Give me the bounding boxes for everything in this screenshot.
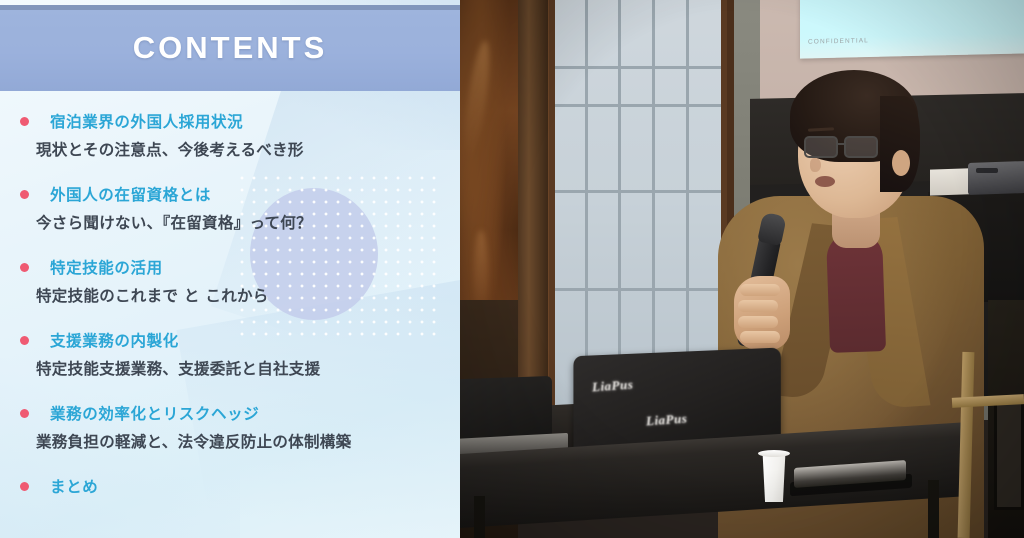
toc-item-title: 宿泊業界の外国人採用状況 [50, 110, 243, 132]
shoji-mullion [618, 0, 621, 406]
shoji-rail [555, 104, 721, 107]
table-leg [928, 480, 939, 538]
toc-item-title: 外国人の在留資格とは [50, 183, 211, 205]
speaker-mouth [815, 176, 835, 187]
list-item[interactable]: 支援業務の内製化 特定技能支援業務、支援委託と自社支援 [0, 329, 460, 379]
wood-pillar [516, 0, 548, 420]
spacer [0, 239, 460, 256]
eyeglasses-right-lens [844, 136, 878, 158]
toc-item-subtitle: 今さら聞けない、『在留資格』って何？ [0, 211, 460, 233]
speaker-nose [810, 158, 821, 172]
finger [740, 331, 780, 343]
table-leg [474, 496, 485, 538]
toc-item-header: 外国人の在留資格とは [0, 183, 460, 205]
eyeglasses-left-lens [804, 136, 838, 158]
finger [740, 284, 780, 296]
toc-item-title: 支援業務の内製化 [50, 329, 179, 351]
bullet-dot-icon [20, 482, 29, 491]
shoji-mullion [585, 0, 588, 406]
shoji-paper [555, 0, 721, 406]
toc-item-header: 宿泊業界の外国人採用状況 [0, 110, 460, 132]
shoji-mullion [652, 0, 655, 406]
shoji-rail [555, 190, 721, 193]
contents-slide: CONTENTS 宿泊業界の外国人採用状況 現状とその注意点、今後考えるべき形 … [0, 0, 460, 538]
spacer [0, 312, 460, 329]
speaker-shirt [826, 231, 886, 353]
page-title: CONTENTS [133, 30, 328, 66]
speaker-hair-side [880, 96, 920, 192]
toc-item-subtitle: 特定技能のこれまで と これから [0, 284, 460, 306]
list-item[interactable]: 業務の効率化とリスクヘッジ 業務負担の軽減と、法令違反防止の体制構築 [0, 402, 460, 452]
list-item[interactable]: 宿泊業界の外国人採用状況 現状とその注意点、今後考えるべき形 [0, 110, 460, 160]
spacer [0, 458, 460, 475]
header-top-rule [0, 5, 460, 10]
list-item[interactable]: 特定技能の活用 特定技能のこれまで と これから [0, 256, 460, 306]
list-item[interactable]: 外国人の在留資格とは 今さら聞けない、『在留資格』って何？ [0, 183, 460, 233]
shoji-mullion [686, 0, 689, 406]
laptop-logo-sticker-bottom: LiaPus [645, 411, 687, 430]
picture-frame [994, 400, 1024, 510]
toc-item-header: 特定技能の活用 [0, 256, 460, 278]
bullet-dot-icon [20, 190, 29, 199]
toc-item-title: 特定技能の活用 [50, 256, 163, 278]
paper-cup-rim [758, 450, 790, 457]
presentation-photo: CONFIDENTIAL [460, 0, 1024, 538]
toc-item-title: まとめ [50, 475, 98, 497]
finger [738, 300, 778, 312]
laptop-logo-sticker-top: LiaPus [591, 377, 633, 396]
shoji-rail [555, 288, 721, 291]
slide-header-band: CONTENTS [0, 5, 460, 91]
projector-device [968, 161, 1024, 195]
slide-with-photo-composite: CONTENTS 宿泊業界の外国人採用状況 現状とその注意点、今後考えるべき形 … [0, 0, 1024, 538]
spacer [0, 166, 460, 183]
bullet-dot-icon [20, 409, 29, 418]
spacer [0, 385, 460, 402]
toc-item-header: 業務の効率化とリスクヘッジ [0, 402, 460, 424]
bullet-dot-icon [20, 336, 29, 345]
projection-screen [800, 0, 1024, 59]
speaker-ear [892, 150, 910, 176]
toc-item-header: まとめ [0, 475, 460, 497]
eyeglasses-bridge [837, 143, 846, 145]
toc-item-subtitle: 業務負担の軽減と、法令違反防止の体制構築 [0, 430, 460, 452]
shoji-rail [555, 66, 721, 69]
contents-list: 宿泊業界の外国人採用状況 現状とその注意点、今後考えるべき形 外国人の在留資格と… [0, 96, 460, 503]
toc-item-subtitle: 特定技能支援業務、支援委託と自社支援 [0, 357, 460, 379]
projection-screen-watermark: CONFIDENTIAL [808, 37, 869, 45]
toc-item-subtitle: 現状とその注意点、今後考えるべき形 [0, 138, 460, 160]
list-item[interactable]: まとめ [0, 475, 460, 497]
toc-item-title: 業務の効率化とリスクヘッジ [50, 402, 259, 424]
bullet-dot-icon [20, 117, 29, 126]
projector-lens [976, 168, 998, 173]
bullet-dot-icon [20, 263, 29, 272]
toc-item-header: 支援業務の内製化 [0, 329, 460, 351]
finger [738, 316, 778, 328]
